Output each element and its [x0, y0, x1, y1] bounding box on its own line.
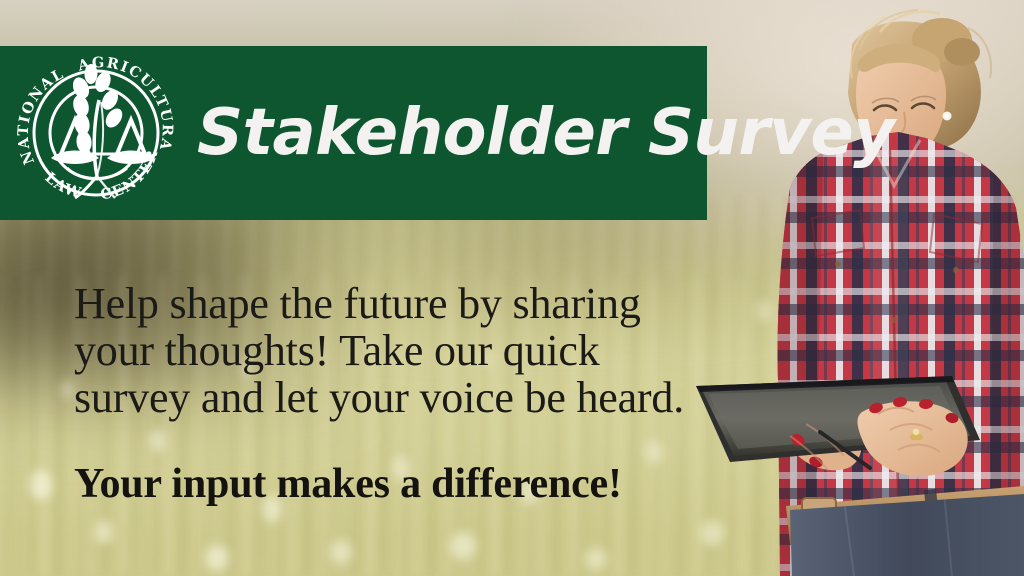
bokeh-speck — [585, 548, 607, 570]
bokeh-speck — [205, 545, 229, 571]
bokeh-speck — [30, 470, 52, 500]
page-title: Stakeholder Survey — [197, 46, 894, 220]
paragraph: Help shape the future by sharing your th… — [74, 280, 774, 421]
paragraph-line: survey and let your voice be heard. — [74, 374, 774, 421]
bokeh-speck — [60, 380, 74, 400]
logo-text-national: NATIONAL — [15, 65, 68, 167]
paragraph-line: your thoughts! Take our quick — [74, 327, 774, 374]
bokeh-speck — [450, 532, 476, 560]
call-to-action-text: Your input makes a difference! — [74, 461, 774, 507]
body-copy: Help shape the future by sharing your th… — [74, 280, 774, 507]
nalc-logo[interactable]: NATIONAL AGRICULTURAL LAW CENTER — [11, 48, 181, 218]
bokeh-speck — [330, 540, 352, 564]
paragraph-line: Help shape the future by sharing — [74, 280, 774, 327]
bokeh-speck — [95, 520, 113, 544]
promo-graphic-canvas: Stakeholder Survey — [0, 0, 1024, 576]
